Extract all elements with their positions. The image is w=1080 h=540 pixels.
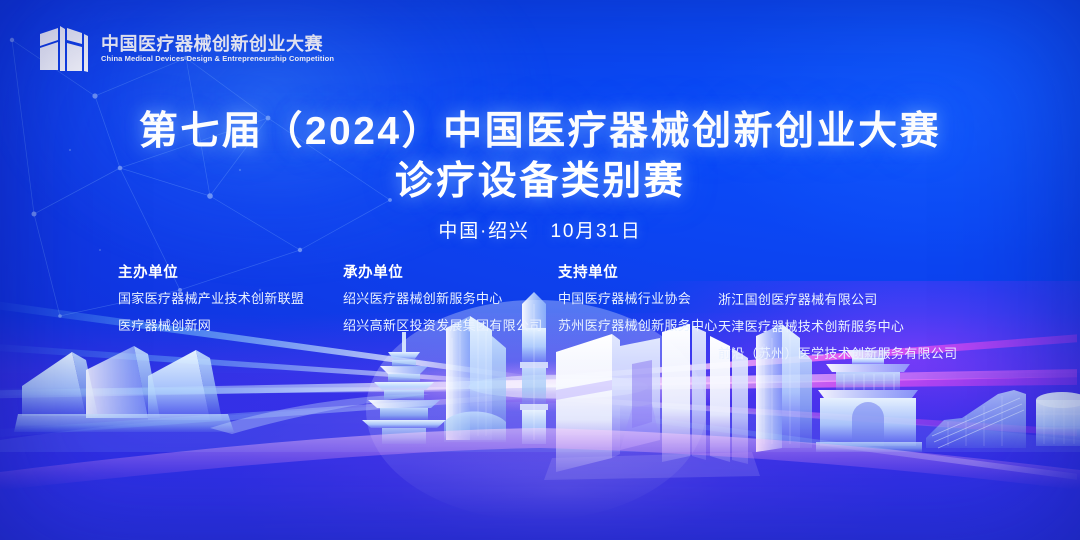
brand-name-chinese: 中国医疗器械创新创业大赛 — [101, 35, 330, 53]
organizer-item: 前沿（苏州）医学技术创新服务有限公司 — [718, 347, 988, 360]
organizer-column-host: 主办单位 国家医疗器械产业技术创新联盟 医疗器械创新网 — [118, 266, 343, 346]
poster-canvas: 中国医疗器械创新创业大赛 China Medical Devices Desig… — [0, 0, 1080, 540]
organizers-block: 主办单位 国家医疗器械产业技术创新联盟 医疗器械创新网 承办单位 绍兴医疗器械创… — [118, 266, 998, 374]
brand-logo: 中国医疗器械创新创业大赛 China Medical Devices Desig… — [38, 24, 330, 74]
organizer-column-undertaker: 承办单位 绍兴医疗器械创新服务中心 绍兴高新区投资发展集团有限公司 — [343, 266, 558, 346]
event-location-date: 中国·绍兴 10月31日 — [0, 216, 1080, 243]
brand-logo-text: 中国医疗器械创新创业大赛 China Medical Devices Desig… — [101, 35, 330, 62]
brand-name-english: China Medical Devices Design & Entrepren… — [101, 55, 334, 62]
event-title-line-1: 第七届（2024）中国医疗器械创新创业大赛 — [0, 108, 1080, 156]
organizer-heading-supporter: 支持单位 — [558, 266, 718, 281]
landmark-round-stadium — [1036, 392, 1080, 446]
organizer-item: 苏州医疗器械创新服务中心 — [558, 319, 718, 332]
event-title-line-2: 诊疗设备类别赛 — [0, 158, 1080, 206]
organizer-heading-undertaker: 承办单位 — [343, 266, 558, 281]
organizer-item: 国家医疗器械产业技术创新联盟 — [118, 292, 343, 305]
organizer-item: 中国医疗器械行业协会 — [558, 292, 718, 305]
organizer-item: 绍兴医疗器械创新服务中心 — [343, 292, 558, 305]
landmark-stepped-terrace-building — [926, 390, 1026, 448]
organizer-heading-host: 主办单位 — [118, 266, 343, 281]
organizer-item: 天津医疗器械技术创新服务中心 — [718, 320, 988, 333]
organizer-column-supporter-overflow: 浙江国创医疗器械有限公司 天津医疗器械技术创新服务中心 前沿（苏州）医学技术创新… — [718, 266, 988, 374]
organizer-column-supporter: 支持单位 中国医疗器械行业协会 苏州医疗器械创新服务中心 — [558, 266, 718, 346]
cmdc-open-book-logo-icon — [38, 24, 90, 74]
organizer-item: 绍兴高新区投资发展集团有限公司 — [343, 319, 558, 332]
headline-block: 第七届（2024）中国医疗器械创新创业大赛 诊疗设备类别赛 — [0, 108, 1080, 205]
organizer-item: 浙江国创医疗器械有限公司 — [718, 293, 988, 306]
organizer-item: 医疗器械创新网 — [118, 319, 343, 332]
